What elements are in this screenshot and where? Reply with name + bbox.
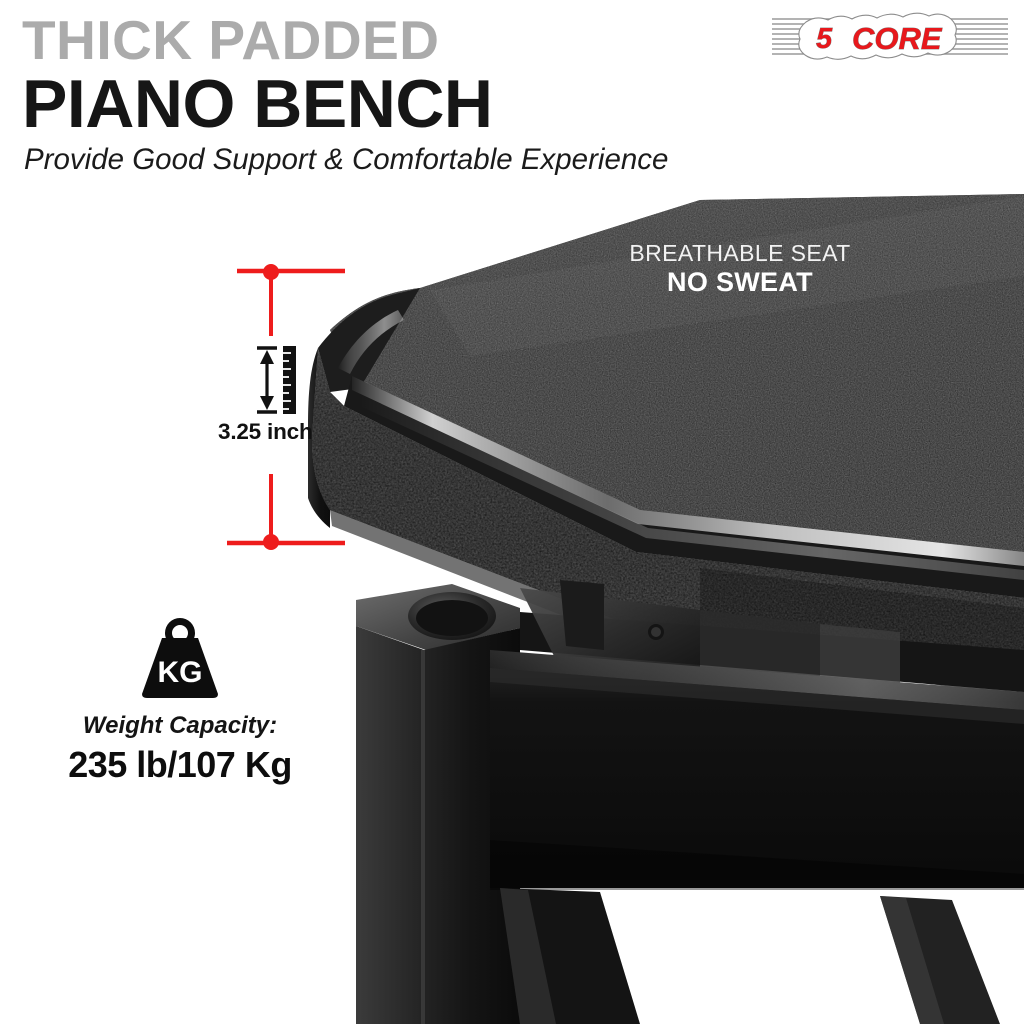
svg-text:CORE: CORE bbox=[852, 21, 943, 56]
page-title: PIANO BENCH bbox=[22, 70, 722, 139]
weight-capacity-caption: Weight Capacity: bbox=[30, 712, 330, 740]
product-infographic-canvas: THICK PADDED PIANO BENCH Provide Good Su… bbox=[0, 0, 1024, 1024]
thickness-label: 3.25 inch bbox=[218, 419, 313, 445]
thickness-dimension-annotation bbox=[225, 262, 355, 552]
headline-eyebrow: THICK PADDED bbox=[22, 14, 722, 68]
svg-text:KG: KG bbox=[158, 656, 203, 689]
weight-kg-icon: KG bbox=[126, 614, 234, 704]
weight-capacity-value: 235 lb/107 Kg bbox=[30, 744, 330, 786]
weight-capacity-block: KG Weight Capacity: 235 lb/107 Kg bbox=[30, 614, 330, 786]
svg-text:5: 5 bbox=[816, 23, 833, 55]
headline-subtitle: Provide Good Support & Comfortable Exper… bbox=[24, 144, 722, 176]
brand-logo: 5 CORE bbox=[770, 12, 1010, 62]
product-photo bbox=[0, 180, 1024, 1024]
headline-block: THICK PADDED PIANO BENCH Provide Good Su… bbox=[22, 14, 722, 177]
